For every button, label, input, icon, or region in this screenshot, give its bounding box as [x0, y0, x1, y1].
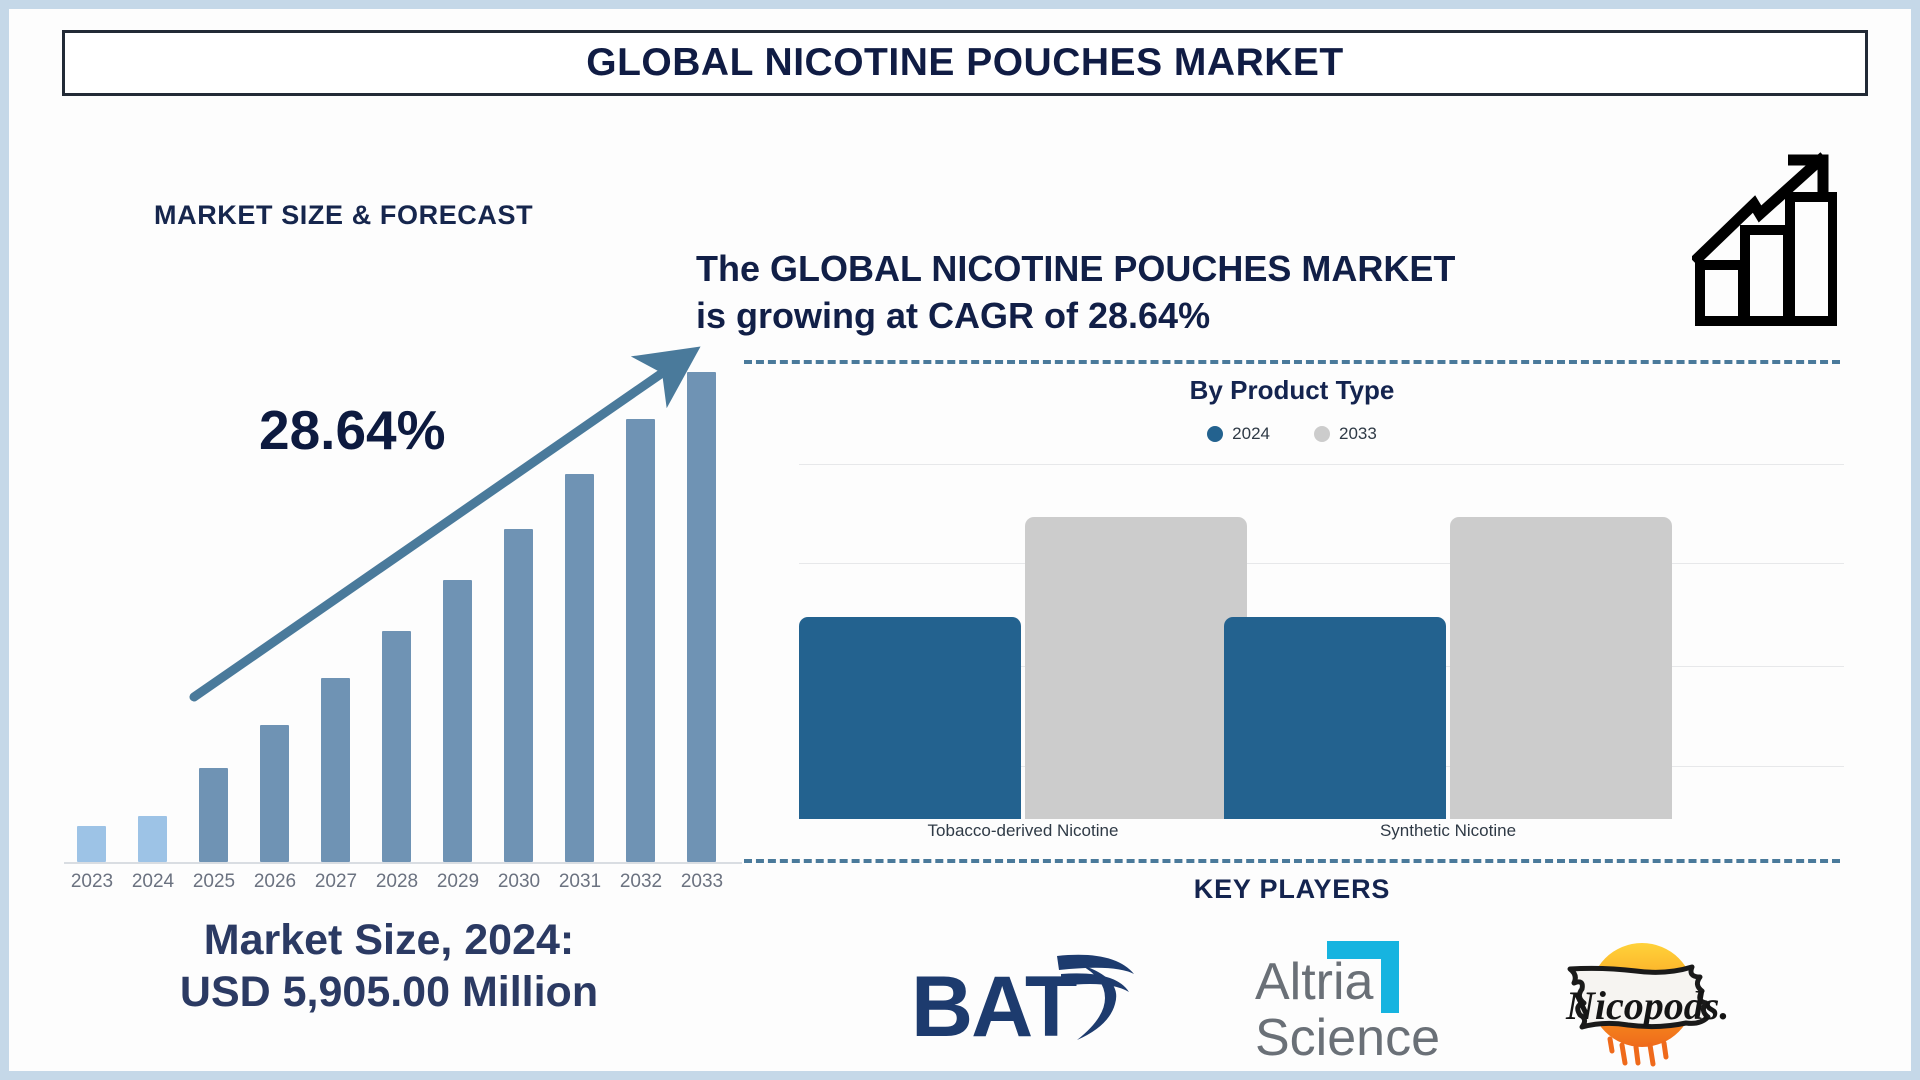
year-label-2030: 2030: [489, 871, 549, 893]
legend-label: 2033: [1339, 424, 1377, 444]
product-bar-2024: [799, 617, 1021, 819]
product-bar-2024: [1224, 617, 1446, 819]
year-label-2033: 2033: [672, 871, 732, 893]
legend-item-2024: 2024: [1207, 424, 1270, 444]
year-label-2032: 2032: [611, 871, 671, 893]
year-label-2029: 2029: [428, 871, 488, 893]
svg-text:Altria: Altria: [1255, 953, 1374, 1011]
market-size-value: Market Size, 2024: USD 5,905.00 Million: [69, 914, 709, 1019]
year-label-2028: 2028: [367, 871, 427, 893]
trend-arrow-icon: [39, 339, 729, 864]
legend-label: 2024: [1232, 424, 1270, 444]
title-box: GLOBAL NICOTINE POUCHES MARKET: [62, 30, 1868, 96]
legend-dot-icon: [1314, 426, 1330, 442]
market-size-forecast-heading: MARKET SIZE & FORECAST: [154, 200, 533, 231]
year-label-2024: 2024: [123, 871, 183, 893]
svg-text:Science: Science: [1255, 1009, 1440, 1062]
nicopods-cz-logo: Nicopods.cz: [1554, 929, 1729, 1069]
legend-dot-icon: [1207, 426, 1223, 442]
altria-science-logo: Altria Science: [1249, 937, 1444, 1062]
gridline: [799, 464, 1844, 465]
product-type-chart: [744, 464, 1844, 819]
divider-bottom: [744, 859, 1840, 863]
infographic-page: GLOBAL NICOTINE POUCHES MARKET MARKET SI…: [0, 0, 1920, 1080]
product-bar-2033: [1450, 517, 1672, 819]
legend-item-2033: 2033: [1314, 424, 1377, 444]
market-size-forecast-chart: [39, 339, 729, 864]
year-label-2027: 2027: [306, 871, 366, 893]
year-label-2023: 2023: [62, 871, 122, 893]
market-size-label: Market Size, 2024:: [69, 914, 709, 966]
key-players-logos: BAT Altria Science: [909, 924, 1729, 1074]
svg-text:BAT: BAT: [911, 959, 1077, 1054]
cagr-headline-line1: The GLOBAL NICOTINE POUCHES MARKET: [696, 246, 1696, 293]
year-label-2031: 2031: [550, 871, 610, 893]
by-product-type-heading: By Product Type: [744, 375, 1840, 406]
chart-legend: 20242033: [744, 424, 1840, 444]
bat-logo: BAT: [909, 944, 1139, 1054]
year-label-2026: 2026: [245, 871, 305, 893]
gridline: [799, 563, 1844, 564]
cagr-headline-line2: is growing at CAGR of 28.64%: [696, 293, 1696, 340]
market-size-amount: USD 5,905.00 Million: [69, 966, 709, 1018]
key-players-heading: KEY PLAYERS: [744, 874, 1840, 905]
page-title: GLOBAL NICOTINE POUCHES MARKET: [586, 41, 1343, 85]
svg-text:Nicopods.cz: Nicopods.cz: [1565, 983, 1729, 1028]
product-bar-2033: [1025, 517, 1247, 819]
forecast-year-axis: 2023202420252026202720282029203020312032…: [39, 871, 729, 901]
year-label-2025: 2025: [184, 871, 244, 893]
cagr-headline: The GLOBAL NICOTINE POUCHES MARKET is gr…: [696, 246, 1696, 340]
product-category-label: Synthetic Nicotine: [1164, 821, 1732, 841]
growth-bar-chart-arrow-icon: [1692, 152, 1837, 327]
divider-top: [744, 360, 1840, 364]
